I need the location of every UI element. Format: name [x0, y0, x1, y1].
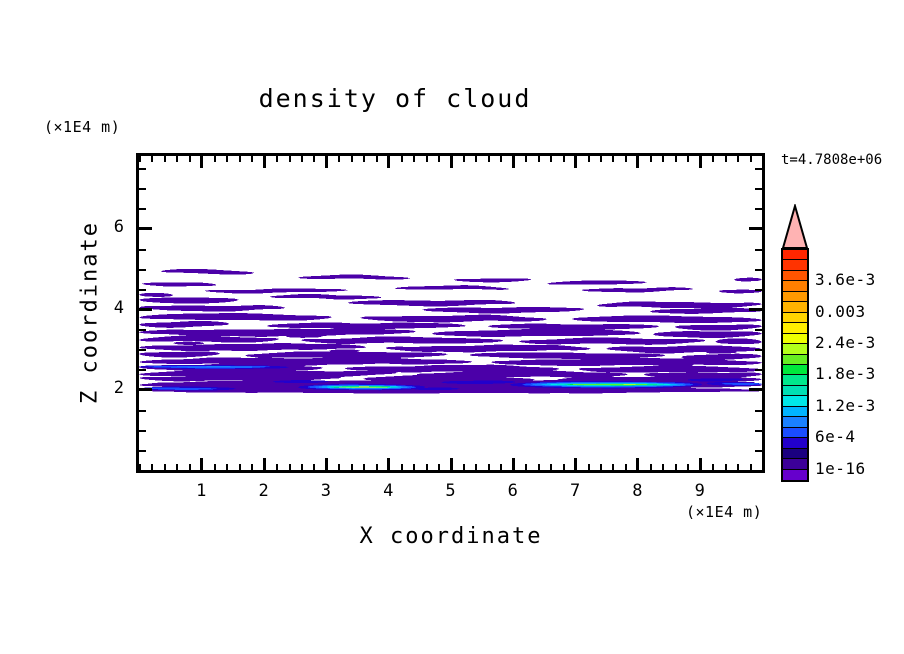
x-minor-tick-top [675, 156, 677, 162]
x-major-tick-top [200, 156, 203, 168]
x-minor-tick [538, 464, 540, 470]
colorbar-band [783, 302, 807, 312]
colorbar-tick-label: 6e-4 [815, 427, 856, 446]
x-minor-tick [712, 464, 714, 470]
colorbar-arrow-icon [780, 204, 810, 248]
x-minor-tick [413, 464, 415, 470]
x-minor-tick [276, 464, 278, 470]
x-tick-label: 4 [363, 481, 413, 501]
y-minor-tick [139, 369, 146, 371]
x-minor-tick [563, 464, 565, 470]
contour-filament [139, 352, 220, 358]
x-minor-tick [313, 464, 315, 470]
x-minor-tick-top [276, 156, 278, 162]
x-axis-title: X coordinate [136, 524, 766, 549]
y-axis-unit-label: (×1E4 m) [44, 118, 120, 136]
x-minor-tick-top [413, 156, 415, 162]
x-minor-tick-top [338, 156, 340, 162]
y-minor-tick-right [755, 289, 762, 291]
x-tick-label: 1 [176, 481, 226, 501]
x-minor-tick [214, 464, 216, 470]
y-minor-tick-right [755, 369, 762, 371]
contour-filament [298, 275, 410, 280]
y-minor-tick [139, 188, 146, 190]
x-minor-tick-top [239, 156, 241, 162]
colorbar-band [783, 313, 807, 323]
y-minor-tick [139, 208, 146, 210]
x-major-tick [387, 458, 390, 470]
colorbar-band [783, 449, 807, 459]
contour-filament [572, 315, 762, 323]
colorbar-band [783, 386, 807, 396]
contour-filament [270, 294, 382, 300]
y-minor-tick-right [755, 269, 762, 271]
x-minor-tick [239, 464, 241, 470]
contour-filament [734, 278, 762, 282]
contour-filament [653, 331, 762, 338]
colorbar-tick-label: 0.003 [815, 302, 866, 321]
x-major-tick-top [387, 156, 390, 168]
x-tick-label: 5 [426, 481, 476, 501]
x-minor-tick [338, 464, 340, 470]
contour-filament [139, 298, 239, 304]
x-minor-tick [251, 464, 253, 470]
y-major-tick [139, 308, 152, 311]
contour-filament [650, 308, 762, 314]
x-minor-tick-top [139, 156, 141, 162]
x-tick-label: 8 [612, 481, 662, 501]
x-minor-tick [675, 464, 677, 470]
contour-filament [675, 325, 762, 331]
colorbar-band [783, 407, 807, 417]
colorbar-band [783, 250, 807, 260]
contour-filament [161, 269, 255, 275]
contour-filament [547, 280, 647, 284]
contour-filament [142, 282, 217, 286]
colorbar[interactable] [780, 204, 810, 482]
contour-filament [139, 321, 229, 328]
x-tick-label: 2 [239, 481, 289, 501]
colorbar-band [783, 428, 807, 438]
x-minor-tick [363, 464, 365, 470]
y-minor-tick [139, 450, 146, 452]
x-minor-tick [625, 464, 627, 470]
x-minor-tick-top [426, 156, 428, 162]
contour-filament [578, 366, 762, 373]
x-major-tick-top [325, 156, 328, 168]
x-major-tick [699, 458, 702, 470]
y-minor-tick-right [755, 188, 762, 190]
y-minor-tick [139, 269, 146, 271]
x-minor-tick-top [438, 156, 440, 162]
x-minor-tick-top [176, 156, 178, 162]
y-minor-tick [139, 349, 146, 351]
x-minor-tick [762, 464, 764, 470]
colorbar-tick-label: 3.6e-3 [815, 270, 876, 289]
contour-filament [715, 338, 762, 344]
x-minor-tick-top [151, 156, 153, 162]
y-minor-tick-right [755, 450, 762, 452]
x-minor-tick-top [625, 156, 627, 162]
x-minor-tick-top [313, 156, 315, 162]
contour-filament [432, 329, 641, 337]
contour-filament [606, 345, 762, 353]
contour-filament [301, 336, 504, 344]
page-title: density of cloud [0, 84, 790, 113]
x-minor-tick [737, 464, 739, 470]
colorbar-band [783, 323, 807, 333]
x-minor-tick [189, 464, 191, 470]
x-major-tick-top [450, 156, 453, 168]
x-major-tick [574, 458, 577, 470]
x-minor-tick-top [301, 156, 303, 162]
x-minor-tick [600, 464, 602, 470]
x-minor-tick-top [189, 156, 191, 162]
x-minor-tick [289, 464, 291, 470]
x-minor-tick [488, 464, 490, 470]
x-minor-tick-top [363, 156, 365, 162]
x-minor-tick-top [563, 156, 565, 162]
colorbar-band [783, 470, 807, 480]
y-minor-tick-right [755, 410, 762, 412]
x-major-tick [450, 458, 453, 470]
colorbar-band [783, 334, 807, 344]
contour-filament [204, 288, 347, 293]
x-minor-tick [164, 464, 166, 470]
x-major-tick [636, 458, 639, 470]
x-minor-tick [525, 464, 527, 470]
colorbar-band [783, 260, 807, 270]
y-tick-label: 2 [76, 378, 124, 398]
x-minor-tick-top [351, 156, 353, 162]
x-axis-unit-label: (×1E4 m) [686, 503, 762, 521]
x-minor-tick-top [226, 156, 228, 162]
x-major-tick-top [636, 156, 639, 168]
contour-filament [139, 293, 173, 297]
x-minor-tick-top [164, 156, 166, 162]
x-minor-tick [401, 464, 403, 470]
x-minor-tick-top [251, 156, 253, 162]
colorbar-band [783, 396, 807, 406]
x-major-tick [325, 458, 328, 470]
y-minor-tick [139, 470, 146, 472]
x-major-tick [200, 458, 203, 470]
x-minor-tick [687, 464, 689, 470]
contour-filament [348, 300, 516, 307]
colorbar-band [783, 355, 807, 365]
y-minor-tick-right [755, 208, 762, 210]
x-minor-tick [226, 464, 228, 470]
colorbar-band [783, 438, 807, 448]
x-minor-tick-top [687, 156, 689, 162]
x-minor-tick-top [750, 156, 752, 162]
contour-filament [519, 337, 706, 345]
x-tick-label: 7 [550, 481, 600, 501]
x-minor-tick-top [488, 156, 490, 162]
x-minor-tick [438, 464, 440, 470]
x-minor-tick-top [376, 156, 378, 162]
contour-filament [139, 305, 285, 312]
x-minor-tick-top [662, 156, 664, 162]
colorbar-band [783, 417, 807, 427]
x-minor-tick-top [214, 156, 216, 162]
y-major-tick-right [749, 227, 762, 230]
y-minor-tick [139, 410, 146, 412]
colorbar-tick-label: 1e-16 [815, 459, 866, 478]
contour-filament [139, 328, 416, 336]
contour-filament [139, 357, 472, 366]
colorbar-band [783, 281, 807, 291]
y-minor-tick [139, 289, 146, 291]
x-minor-tick-top [525, 156, 527, 162]
x-minor-tick-top [500, 156, 502, 162]
y-tick-label: 4 [76, 298, 124, 318]
x-minor-tick [550, 464, 552, 470]
contour-filament [423, 307, 585, 314]
x-minor-tick [176, 464, 178, 470]
contour-filament [139, 313, 332, 321]
contour-plot-figure: density of cloud (×1E4 m) (×1E4 m) X coo… [0, 0, 904, 654]
y-major-tick [139, 227, 152, 230]
x-major-tick-top [574, 156, 577, 168]
y-major-tick-right [749, 308, 762, 311]
x-minor-tick [588, 464, 590, 470]
y-minor-tick-right [755, 349, 762, 351]
contour-filament [385, 345, 591, 353]
x-minor-tick-top [762, 156, 764, 162]
x-minor-tick [650, 464, 652, 470]
x-minor-tick [376, 464, 378, 470]
y-minor-tick-right [755, 329, 762, 331]
x-minor-tick [463, 464, 465, 470]
contour-filament [173, 342, 204, 345]
x-minor-tick-top [725, 156, 727, 162]
x-tick-label: 9 [675, 481, 725, 501]
y-minor-tick-right [755, 168, 762, 170]
y-minor-tick [139, 168, 146, 170]
x-minor-tick-top [550, 156, 552, 162]
colorbar-tick-label: 1.8e-3 [815, 364, 876, 383]
y-minor-tick [139, 249, 146, 251]
colorbar-band [783, 375, 807, 385]
colorbar-tick-label: 2.4e-3 [815, 333, 876, 352]
x-minor-tick-top [463, 156, 465, 162]
y-minor-tick-right [755, 249, 762, 251]
x-major-tick-top [263, 156, 266, 168]
contour-field [139, 156, 762, 470]
x-tick-label: 3 [301, 481, 351, 501]
x-minor-tick-top [588, 156, 590, 162]
y-minor-tick [139, 329, 146, 331]
contour-filament [597, 301, 762, 308]
y-major-tick [139, 388, 152, 391]
contour-filament [139, 343, 366, 351]
x-minor-tick-top [401, 156, 403, 162]
x-minor-tick-top [612, 156, 614, 162]
colorbar-band [783, 271, 807, 281]
x-major-tick-top [699, 156, 702, 168]
colorbar-band [783, 344, 807, 354]
contour-filament [360, 315, 547, 323]
x-minor-tick-top [475, 156, 477, 162]
x-minor-tick [725, 464, 727, 470]
x-minor-tick [612, 464, 614, 470]
time-annotation: t=4.7808e+06 [781, 152, 882, 168]
x-minor-tick [662, 464, 664, 470]
y-minor-tick [139, 430, 146, 432]
colorbar-tick-label: 1.2e-3 [815, 396, 876, 415]
x-major-tick [263, 458, 266, 470]
x-minor-tick-top [650, 156, 652, 162]
x-major-tick-top [512, 156, 515, 168]
y-tick-label: 6 [76, 217, 124, 237]
y-minor-tick-right [755, 470, 762, 472]
colorbar-band [783, 459, 807, 469]
x-minor-tick [475, 464, 477, 470]
x-minor-tick-top [289, 156, 291, 162]
x-tick-label: 6 [488, 481, 538, 501]
x-minor-tick-top [737, 156, 739, 162]
colorbar-band [783, 292, 807, 302]
x-minor-tick-top [600, 156, 602, 162]
contour-filament [454, 279, 532, 283]
x-major-tick [512, 458, 515, 470]
x-minor-tick [151, 464, 153, 470]
x-minor-tick [500, 464, 502, 470]
x-minor-tick [750, 464, 752, 470]
x-minor-tick [426, 464, 428, 470]
colorbar-band [783, 365, 807, 375]
y-minor-tick-right [755, 430, 762, 432]
x-minor-tick-top [712, 156, 714, 162]
x-minor-tick [351, 464, 353, 470]
x-minor-tick-top [538, 156, 540, 162]
y-major-tick-right [749, 388, 762, 391]
x-minor-tick [301, 464, 303, 470]
contour-filament [394, 285, 509, 290]
contour-filament [581, 287, 693, 292]
colorbar-bands [781, 248, 809, 482]
